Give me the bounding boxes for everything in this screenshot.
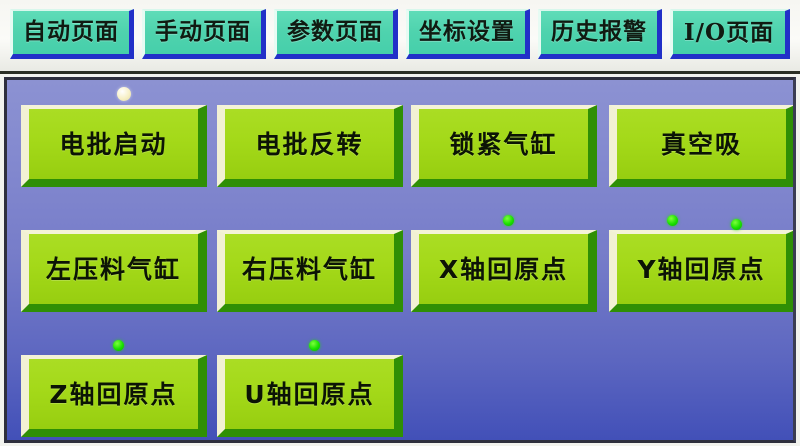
tab-1[interactable]: 自动页面 [10, 9, 134, 59]
control-button-label: U轴回原点 [244, 382, 374, 407]
tab-5[interactable]: 历史报警 [538, 9, 662, 59]
status-lamp-on-icon [503, 215, 514, 226]
control-button-label: 左压料气缸 [46, 257, 181, 282]
tab-label: I/O页面 [684, 21, 774, 44]
control-button-label: 锁紧气缸 [449, 132, 557, 157]
tab-label: 自动页面 [23, 21, 119, 44]
status-lamp-on-icon [731, 219, 742, 230]
control-button-4[interactable]: 真空吸 [609, 105, 795, 187]
control-button-label: Y轴回原点 [637, 257, 765, 282]
control-button-10[interactable]: U轴回原点 [217, 355, 403, 437]
control-button-8[interactable]: Y轴回原点 [609, 230, 795, 312]
control-button-3[interactable]: 锁紧气缸 [411, 105, 597, 187]
tab-label: 参数页面 [287, 21, 383, 44]
tab-2[interactable]: 手动页面 [142, 9, 266, 59]
control-button-label: 右压料气缸 [242, 257, 377, 282]
tab-label: 手动页面 [155, 21, 251, 44]
status-lamp-on-icon [667, 215, 678, 226]
control-button-2[interactable]: 电批反转 [217, 105, 403, 187]
control-button-7[interactable]: X轴回原点 [411, 230, 597, 312]
status-lamp-on-icon [309, 340, 320, 351]
tab-3[interactable]: 参数页面 [274, 9, 398, 59]
status-lamp-on-icon [113, 340, 124, 351]
control-button-6[interactable]: 右压料气缸 [217, 230, 403, 312]
status-lamp-off-icon [117, 87, 131, 101]
tab-4[interactable]: 坐标设置 [406, 9, 530, 59]
control-button-label: 电批反转 [255, 132, 363, 157]
tab-label: 历史报警 [551, 21, 647, 44]
control-button-label: 真空吸 [661, 132, 742, 157]
control-button-label: X轴回原点 [439, 257, 568, 282]
control-button-label: 电批启动 [59, 132, 167, 157]
control-button-label: Z轴回原点 [49, 382, 177, 407]
page-tab-bar: 自动页面手动页面参数页面坐标设置历史报警I/O页面 [0, 0, 800, 74]
control-button-5[interactable]: 左压料气缸 [21, 230, 207, 312]
control-button-1[interactable]: 电批启动 [21, 105, 207, 187]
manual-page-panel: 电批启动电批反转锁紧气缸真空吸左压料气缸右压料气缸X轴回原点Y轴回原点Z轴回原点… [4, 77, 796, 443]
hmi-screen: 自动页面手动页面参数页面坐标设置历史报警I/O页面 电批启动电批反转锁紧气缸真空… [0, 0, 800, 446]
control-button-9[interactable]: Z轴回原点 [21, 355, 207, 437]
tab-label: 坐标设置 [419, 21, 515, 44]
tab-6[interactable]: I/O页面 [670, 9, 790, 59]
